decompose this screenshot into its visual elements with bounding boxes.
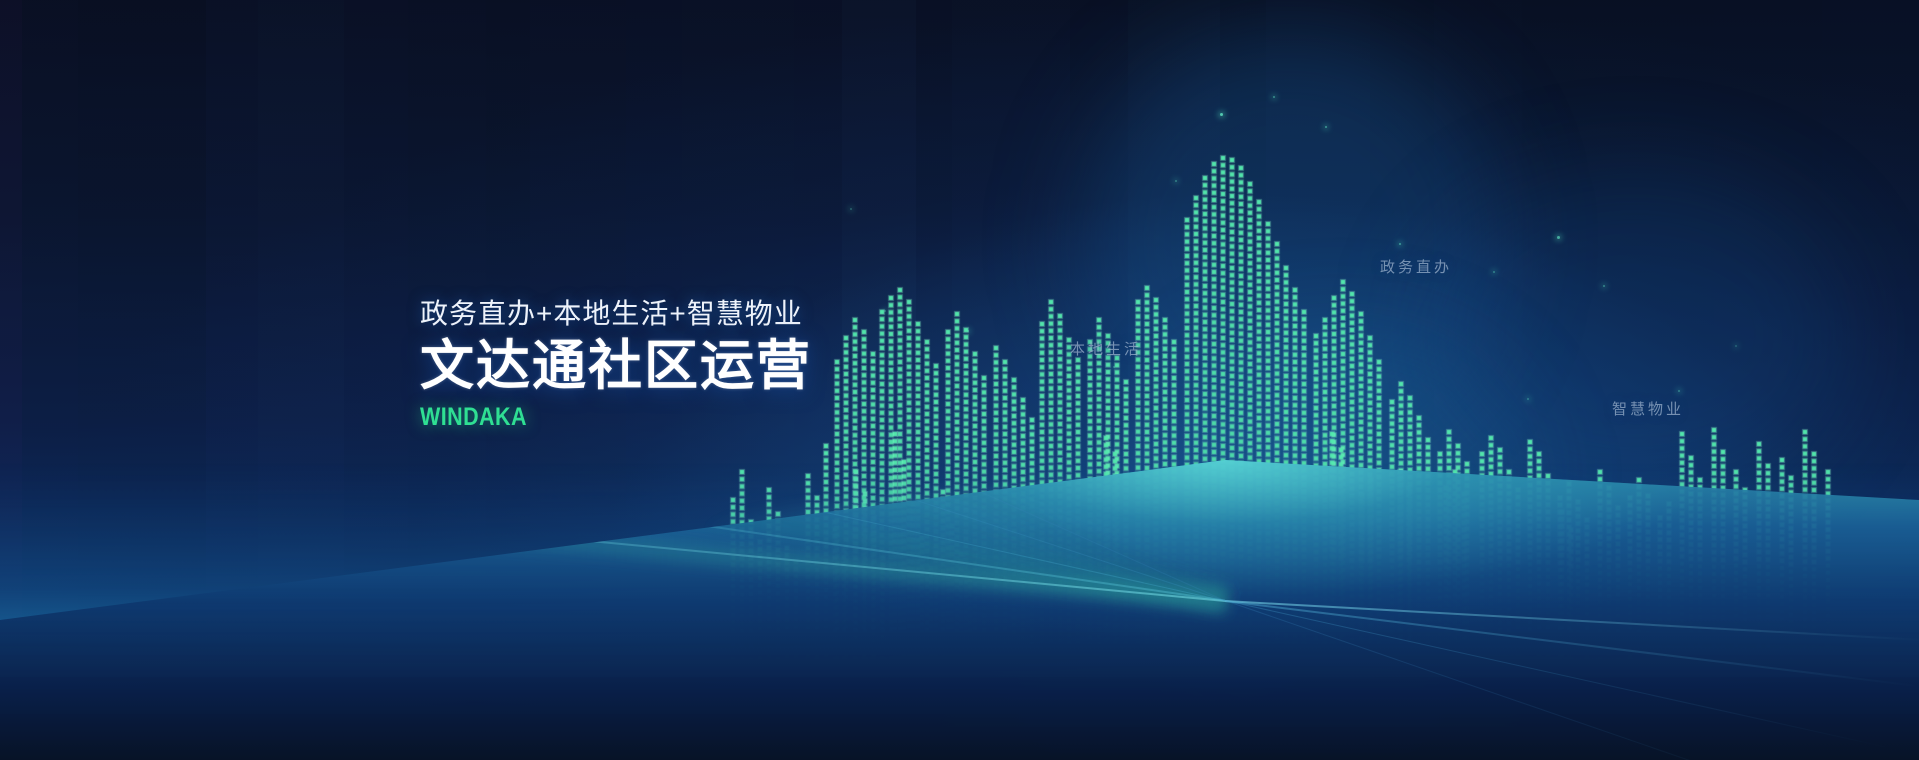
perspective-ray-6: [1225, 600, 1919, 694]
brand-wordmark: WINDAKA: [420, 403, 867, 432]
city-label-local-life: 本地生活: [1070, 338, 1142, 359]
hero-title: 文达通社区运营: [420, 337, 940, 395]
city-label-government: 政务直办: [1380, 256, 1452, 277]
hero-copy-block: 政务直办+本地生活+智慧物业 文达通社区运营 WINDAKA: [420, 296, 940, 432]
city-label-smart-property: 智慧物业: [1612, 398, 1684, 419]
perspective-ray-7: [1225, 600, 1919, 760]
hero-subtitle: 政务直办+本地生活+智慧物业: [420, 296, 940, 331]
hero-banner: 政务直办 本地生活 智慧物业 政务直办+本地生活+智慧物业 文达通社区运营 WI…: [0, 0, 1919, 760]
